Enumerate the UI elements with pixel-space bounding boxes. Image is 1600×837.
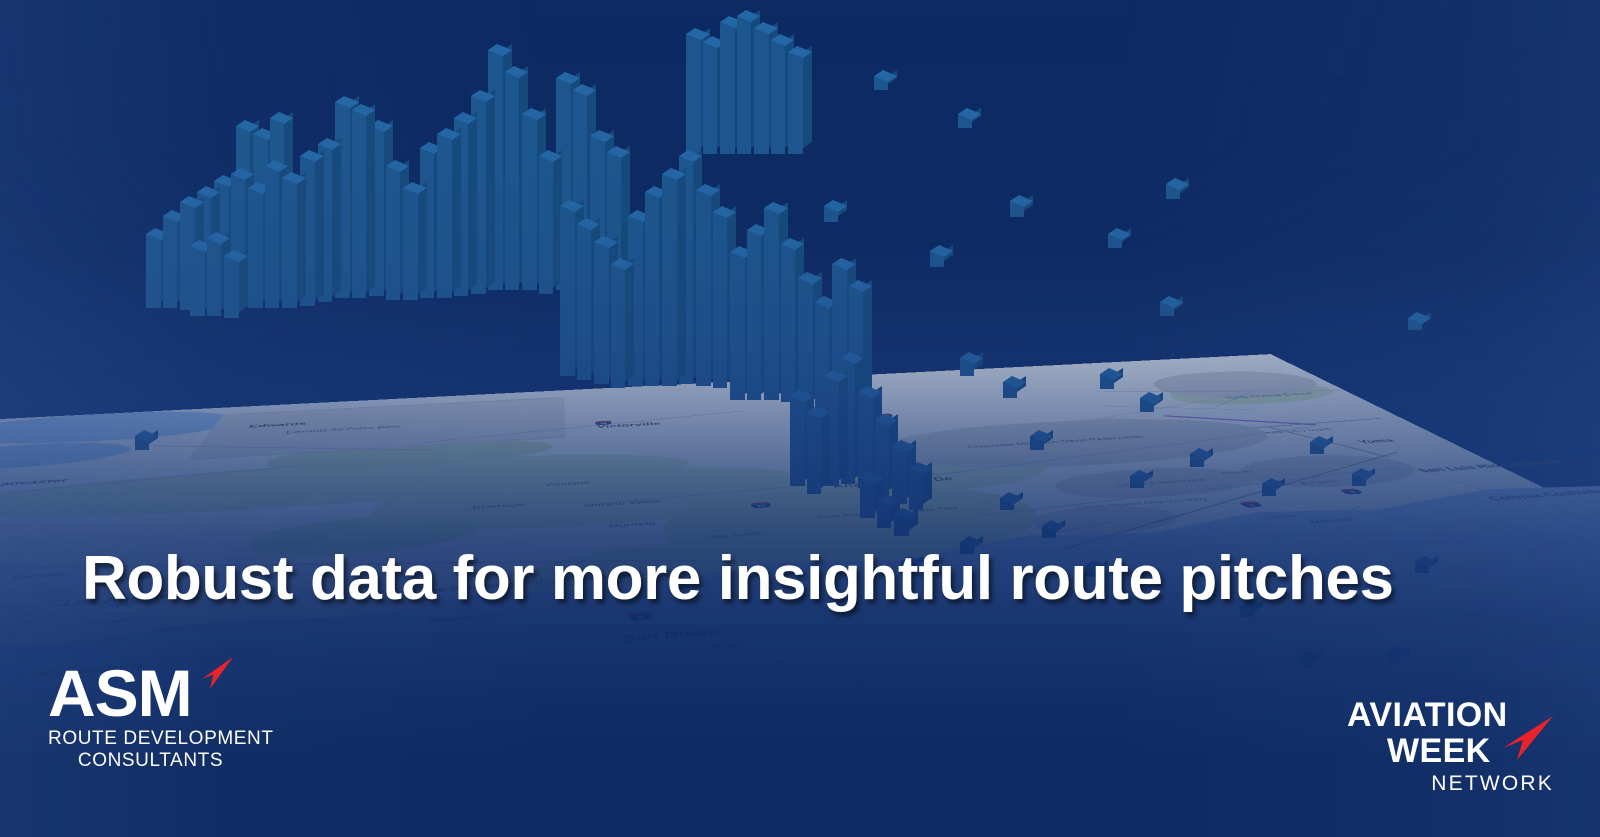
volume-column: [1190, 448, 1213, 467]
volume-column: [1003, 376, 1026, 398]
volume-column: [352, 104, 375, 298]
volume-column: [909, 462, 932, 510]
volume-column: [1010, 195, 1033, 217]
volume-column: [788, 46, 812, 154]
volume-column: [1387, 646, 1410, 663]
volume-column: [1300, 650, 1323, 667]
volume-column: [1108, 228, 1131, 248]
volume-column: [874, 70, 897, 90]
volume-column: [403, 182, 427, 300]
volume-column: [958, 108, 981, 128]
asm-logo[interactable]: ASM ROUTE DEVELOPMENT CONSULTANTS: [48, 660, 288, 785]
volume-column: [1100, 368, 1123, 389]
volume-column: [224, 250, 248, 318]
volume-column: [1262, 478, 1285, 496]
volume-column: [1408, 312, 1431, 330]
red-swoosh-arrow-icon: [1493, 714, 1555, 770]
volume-column: [1042, 520, 1065, 538]
asm-tagline-line1: ROUTE DEVELOPMENT: [48, 728, 288, 750]
volume-column: [1130, 470, 1153, 488]
volume-column: [807, 406, 830, 494]
volume-column: [1000, 492, 1023, 510]
volume-column: [135, 430, 158, 450]
volume-column: [960, 352, 983, 376]
red-swoosh-arrow-icon: [190, 656, 234, 692]
volume-column: [1030, 430, 1053, 450]
volume-column: [437, 128, 461, 298]
aviation-week-network-logo[interactable]: AVIATION WEEK NETWORK: [1345, 698, 1560, 793]
page-title: Robust data for more insightful route pi…: [82, 543, 1482, 615]
aviation-week-line3: NETWORK: [1345, 772, 1560, 796]
volume-column: [1160, 296, 1183, 316]
volume-column: [539, 150, 562, 294]
volume-column: [930, 245, 953, 267]
volume-column: [824, 200, 847, 222]
volume-column: [1352, 468, 1375, 486]
volume-column: [611, 258, 634, 388]
volume-column: [1310, 436, 1333, 454]
volume-column: [282, 172, 306, 308]
volume-column: [894, 508, 918, 536]
volume-column: [1140, 392, 1163, 412]
volume-column: [662, 168, 686, 386]
volume-column: [1166, 178, 1189, 199]
marketing-banner: EdwardsEdwards Air Force BaseLancasterVi…: [0, 0, 1600, 837]
asm-tagline-line2: CONSULTANTS: [48, 750, 253, 772]
asm-wordmark: ASM: [48, 660, 288, 726]
